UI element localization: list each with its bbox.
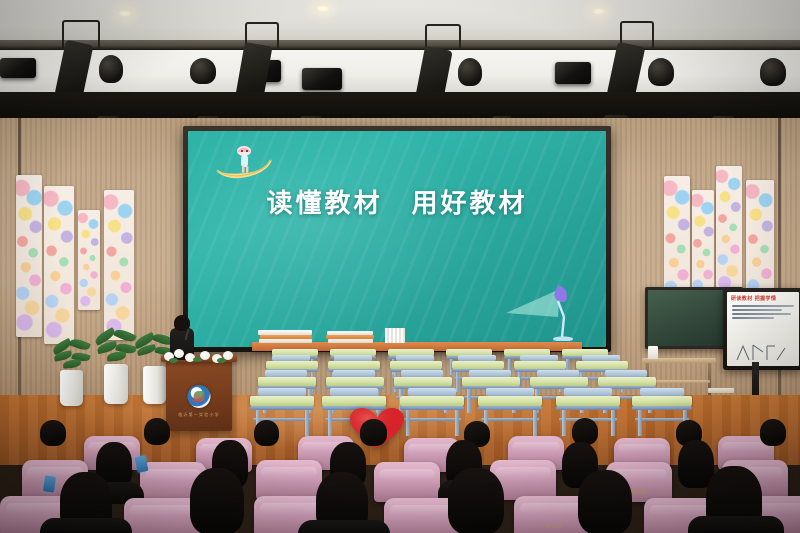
potted-plant (50, 340, 94, 410)
smartboard-heading: 研读教材 把握学情 (731, 297, 799, 303)
paper-cup (648, 346, 658, 359)
audience-head (448, 468, 504, 533)
auditorium-seat[interactable] (256, 460, 322, 500)
seat-row-label: 第六排 (631, 489, 648, 496)
interactive-smartboard[interactable]: 研读教材 把握学情 (723, 288, 800, 370)
stage-light-fixture (0, 58, 36, 78)
audience-head (360, 419, 387, 446)
child-riding-banana-icon (214, 141, 276, 183)
wall-art-banner (716, 166, 742, 294)
book-stack (259, 339, 312, 343)
screen-title-text: 读懂教材 用好教材 (188, 183, 606, 220)
school-emblem-logo-icon (188, 385, 211, 408)
smartboard-text-line (732, 305, 794, 307)
smartboard-sketch-icon (733, 340, 791, 362)
audience-head (760, 419, 786, 446)
lighting-truss-cable (0, 46, 800, 50)
wall-art-banner (44, 186, 74, 344)
stage-light-fixture (760, 58, 786, 86)
audience-head (144, 418, 170, 445)
audience-shoulders (688, 516, 784, 533)
projection-screen: 读懂教材 用好教材 (188, 131, 606, 347)
smartboard-text-line (732, 309, 782, 311)
book-stack (328, 339, 373, 343)
audience-head (190, 468, 244, 533)
audience-phone-screen (134, 455, 148, 473)
wall-art-banner (16, 175, 42, 337)
auditorium-seat[interactable] (374, 462, 440, 502)
seat-row-label: 第六排 (546, 523, 563, 530)
wall-art-banner (78, 210, 100, 310)
stage-light-fixture (648, 58, 674, 86)
desk-lamp-icon (498, 279, 584, 341)
audience-phone-screen (43, 475, 56, 492)
audience-shoulders (40, 518, 132, 533)
ceiling-downlight (118, 10, 132, 17)
stage-light-fixture (302, 68, 342, 90)
smartboard-screen: 研读教材 把握学情 (727, 292, 799, 366)
auditorium-photo: 读懂教材 用好教材 研读教材 把握学情 (0, 0, 800, 533)
audience-head (40, 420, 66, 446)
paper-stack (385, 328, 405, 343)
audience-head (578, 470, 632, 533)
audience-shoulders (298, 520, 390, 533)
podium-flower-arrangement (160, 345, 238, 365)
projection-screen-frame: 读懂教材 用好教材 (183, 126, 611, 352)
stage-light-fixture (190, 58, 216, 84)
smartboard-text-line (732, 313, 791, 315)
smartboard-text-line (732, 317, 774, 319)
stage-light-fixture (555, 62, 591, 84)
stage-light-fixture (99, 55, 123, 83)
wall-art-banner (104, 190, 134, 340)
ceiling-downlight (592, 8, 606, 15)
truss-hanger (425, 24, 461, 48)
small-shelf (708, 388, 734, 393)
audience-head (572, 418, 598, 445)
ceiling-downlight (316, 5, 330, 12)
audience-head (254, 420, 279, 446)
stage-light-fixture (458, 58, 482, 86)
audience-area: 第六排 第六排 (0, 414, 800, 533)
